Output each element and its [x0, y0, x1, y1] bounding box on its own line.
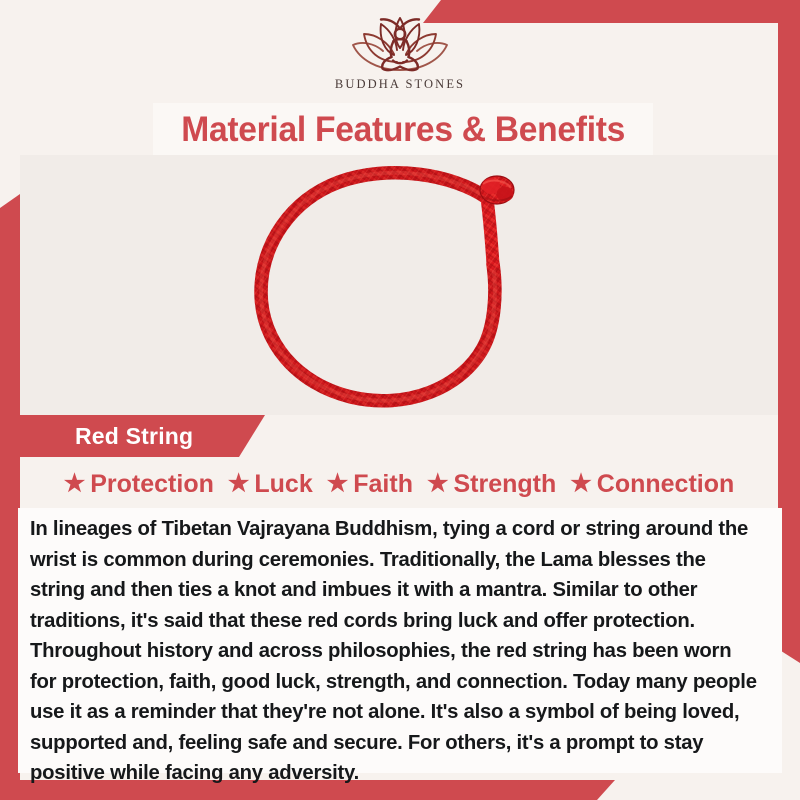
benefit-item: ★ Strength: [421, 472, 562, 497]
description-text: In lineages of Tibetan Vajrayana Buddhis…: [30, 514, 759, 789]
red-braided-string-bracelet-image: [239, 152, 559, 419]
benefits-row: ★ Protection ★ Luck ★ Faith ★ Strength ★…: [20, 462, 778, 506]
material-name: Red String: [20, 425, 193, 448]
benefit-label: Strength: [453, 472, 556, 497]
benefit-item: ★ Faith: [321, 472, 419, 497]
benefit-label: Connection: [597, 472, 735, 497]
star-icon: ★: [427, 472, 449, 496]
star-icon: ★: [570, 472, 592, 496]
brand-header: BUDDHA STONES: [0, 0, 800, 100]
material-ribbon: Red String: [20, 415, 265, 457]
decorative-band-left: [0, 194, 20, 780]
title-band: Material Features & Benefits: [153, 103, 653, 155]
lotus-meditation-icon: [340, 10, 460, 76]
benefit-item: ★ Luck: [222, 472, 319, 497]
star-icon: ★: [228, 472, 250, 496]
star-icon: ★: [64, 472, 86, 496]
hero-panel: [20, 155, 778, 415]
benefit-label: Luck: [254, 472, 312, 497]
infographic-card: BUDDHA STONES Material Features & Benefi…: [0, 0, 800, 800]
benefit-label: Faith: [353, 472, 413, 497]
benefit-item: ★ Connection: [564, 472, 740, 497]
brand-name: BUDDHA STONES: [335, 77, 465, 92]
star-icon: ★: [327, 472, 349, 496]
benefit-item: ★ Protection: [58, 472, 220, 497]
benefit-label: Protection: [90, 472, 214, 497]
description-block: In lineages of Tibetan Vajrayana Buddhis…: [18, 508, 782, 773]
page-title: Material Features & Benefits: [181, 112, 625, 147]
